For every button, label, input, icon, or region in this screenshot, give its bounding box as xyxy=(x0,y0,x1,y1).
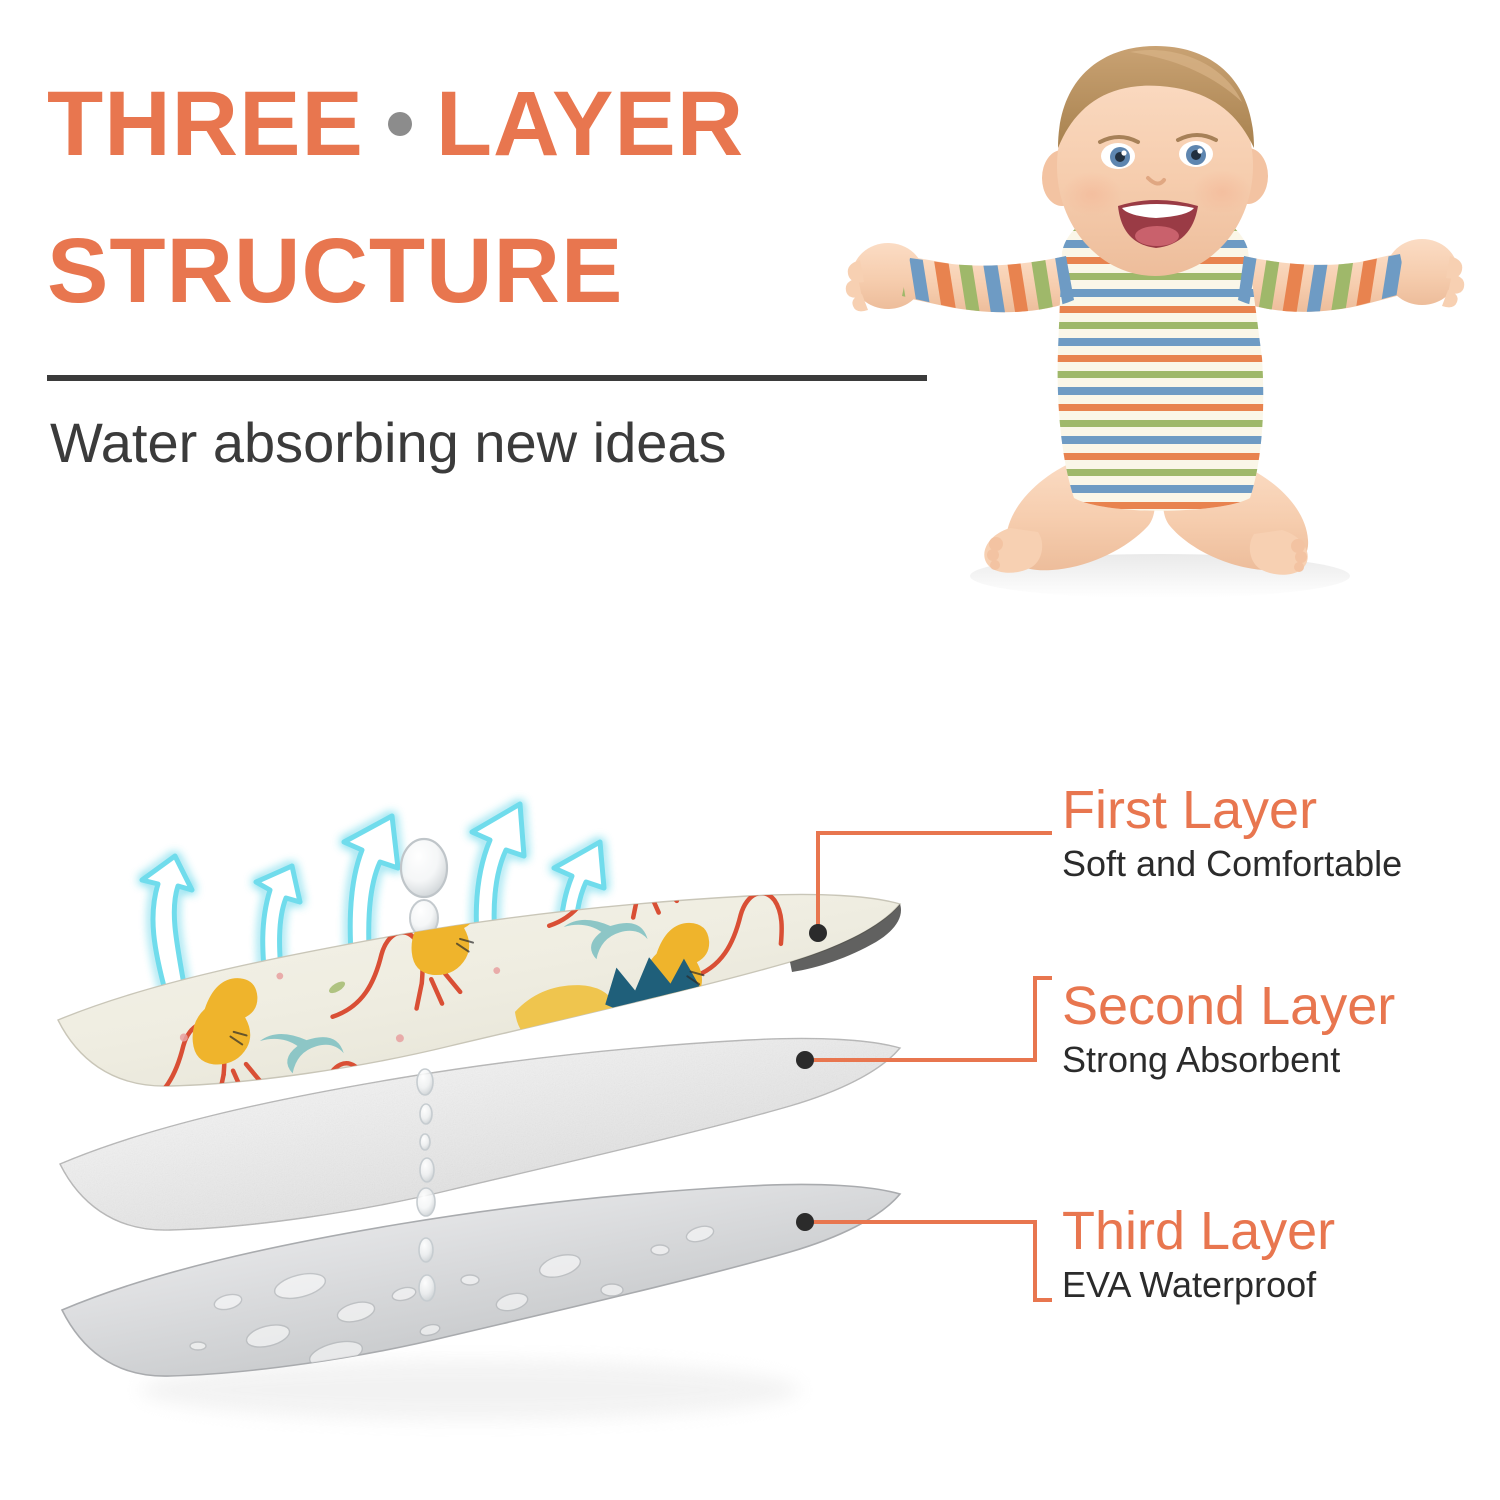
callout-first-layer-subtitle: Soft and Comfortable xyxy=(1062,843,1402,884)
callout-third-layer: Third Layer EVA Waterproof xyxy=(1062,1203,1335,1305)
callout-first-layer-title: First Layer xyxy=(1062,782,1402,839)
callout-first-layer: First Layer Soft and Comfortable xyxy=(1062,782,1402,884)
callout-third-layer-subtitle: EVA Waterproof xyxy=(1062,1264,1335,1305)
headline-line-2: STRUCTURE xyxy=(47,225,947,317)
happy-baby-photo xyxy=(830,28,1480,608)
subtitle-text: Water absorbing new ideas xyxy=(50,410,727,475)
headline-word-structure: STRUCTURE xyxy=(47,225,623,317)
droplets-above-fabric xyxy=(401,839,447,936)
headline-word-layer: LAYER xyxy=(436,78,744,170)
three-layer-exploded-diagram xyxy=(0,690,1060,1500)
headline-block: THREE LAYER STRUCTURE xyxy=(47,78,947,317)
callout-third-layer-title: Third Layer xyxy=(1062,1203,1335,1260)
headline-word-three: THREE xyxy=(47,78,364,170)
callout-second-layer-title: Second Layer xyxy=(1062,978,1395,1035)
callout-second-layer-subtitle: Strong Absorbent xyxy=(1062,1039,1395,1080)
arrow-1 xyxy=(142,856,192,994)
callout-second-layer: Second Layer Strong Absorbent xyxy=(1062,978,1395,1080)
header-divider-rule xyxy=(47,375,927,381)
dot-separator-icon xyxy=(388,112,412,136)
headline-line-1: THREE LAYER xyxy=(47,78,947,170)
